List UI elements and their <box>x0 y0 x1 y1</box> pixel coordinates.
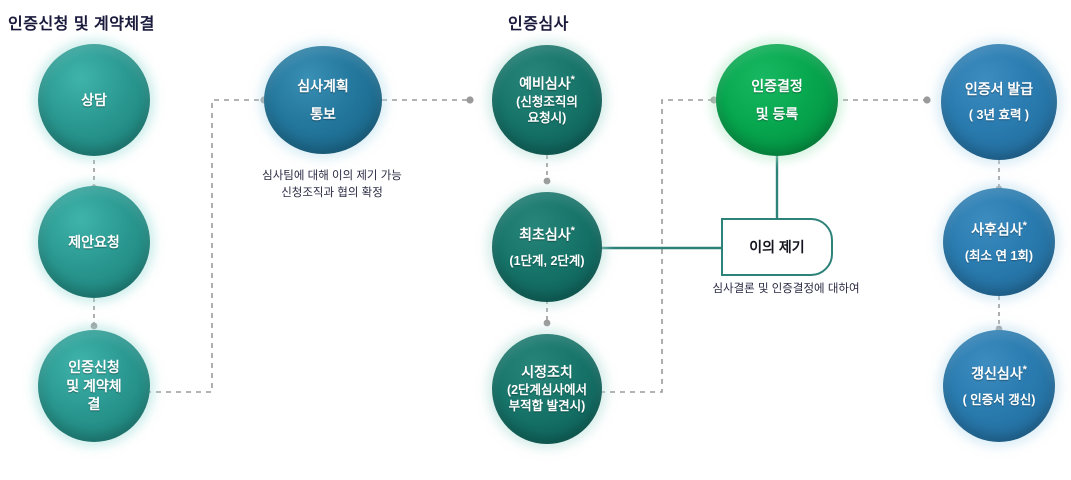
caption-audit-plan-line1: 심사팀에 대해 이의 제기 가능 <box>262 170 402 182</box>
edge-dot <box>466 96 473 103</box>
node-proposal-request-label: 제안요청 <box>68 233 120 251</box>
node-surveillance-audit-line2: (최소 연 1회) <box>965 248 1033 265</box>
node-proposal-request[interactable]: 제안요청 <box>38 186 150 298</box>
node-corrective-action-line2: (2단계심사에서 <box>507 382 587 399</box>
node-consult[interactable]: 상담 <box>38 44 150 156</box>
node-surveillance-audit[interactable]: 사후심사* (최소 연 1회) <box>943 188 1055 296</box>
edge-apply-to-audit-plan <box>146 100 262 392</box>
node-surveillance-audit-line1: 사후심사* <box>971 219 1027 239</box>
node-certificate-issuance-line2: ( 3년 효력 ) <box>969 107 1029 124</box>
node-corrective-action[interactable]: 시정조치 (2단계심사에서 부적합 발견시) <box>492 334 602 444</box>
node-audit-plan-notice[interactable]: 심사계획 통보 <box>264 46 382 154</box>
caption-audit-plan-line2: 신청조직과 협의 확정 <box>281 187 383 199</box>
edge-dot <box>544 178 551 185</box>
node-preliminary-audit-line3: 요청시) <box>528 110 567 127</box>
node-initial-audit-line1: 최초심사* <box>519 224 575 244</box>
node-application-contract-line2: 및 계약체 <box>66 377 121 395</box>
node-certification-decision-line2: 및 등록 <box>756 105 799 123</box>
node-preliminary-audit[interactable]: 예비심사* (신청조직의 요청시) <box>492 45 602 155</box>
node-corrective-action-line3: 부적합 발견시) <box>509 398 586 415</box>
edge-dot <box>91 323 98 330</box>
node-renewal-audit-line2: ( 인증서 갱신) <box>963 392 1036 409</box>
caption-appeal: 심사결론 및 인증결정에 대하여 <box>666 281 906 298</box>
asterisk-marker: * <box>1023 220 1027 232</box>
note-box-appeal[interactable]: 이의 제기 <box>721 218 833 276</box>
node-renewal-audit-line1: 갱신심사* <box>971 363 1027 383</box>
node-consult-label: 상담 <box>81 91 107 109</box>
node-initial-audit-line2: (1단계, 2단계) <box>509 253 584 270</box>
section-title-application: 인증신청 및 계약체결 <box>8 10 155 34</box>
node-initial-audit[interactable]: 최초심사* (1단계, 2단계) <box>492 192 602 302</box>
node-certificate-issuance[interactable]: 인증서 발급 ( 3년 효력 ) <box>941 44 1057 160</box>
asterisk-marker: * <box>1023 364 1027 376</box>
edge-corrective-to-decision <box>600 100 712 392</box>
edge-dot <box>544 320 551 327</box>
section-title-audit: 인증심사 <box>508 10 569 34</box>
node-application-contract-line3: 결 <box>88 395 101 413</box>
node-renewal-audit[interactable]: 갱신심사* ( 인증서 갱신) <box>943 330 1055 442</box>
node-audit-plan-notice-line1: 심사계획 <box>297 77 349 95</box>
caption-audit-plan: 심사팀에 대해 이의 제기 가능 신청조직과 협의 확정 <box>232 168 432 201</box>
node-application-contract[interactable]: 인증신청 및 계약체 결 <box>38 330 150 442</box>
node-application-contract-line1: 인증신청 <box>68 358 120 376</box>
asterisk-marker: * <box>571 74 575 86</box>
node-certification-decision-line1: 인증결정 <box>751 77 803 95</box>
note-box-appeal-label: 이의 제기 <box>749 237 804 257</box>
edge-dot <box>923 96 930 103</box>
node-certification-decision[interactable]: 인증결정 및 등록 <box>716 44 838 156</box>
node-certificate-issuance-line1: 인증서 발급 <box>965 80 1033 98</box>
node-preliminary-audit-line1: 예비심사* <box>519 73 575 93</box>
asterisk-marker: * <box>571 225 575 237</box>
node-corrective-action-line1: 시정조치 <box>521 363 573 381</box>
node-preliminary-audit-line2: (신청조직의 <box>516 94 578 111</box>
process-flow-diagram: 인증신청 및 계약체결 인증심사 상담 제안요청 인증신청 및 계약체 결 심사… <box>0 0 1071 480</box>
node-audit-plan-notice-line2: 통보 <box>310 105 336 123</box>
